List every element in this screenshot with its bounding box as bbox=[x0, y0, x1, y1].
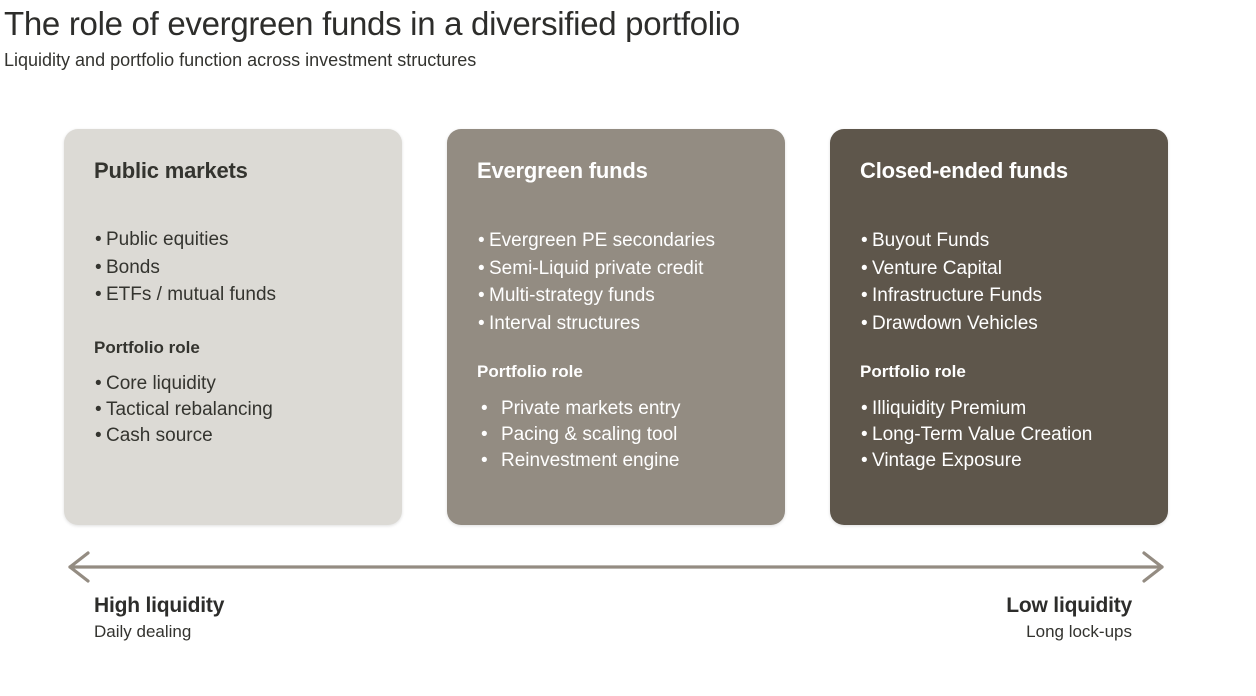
list-item: Cash source bbox=[94, 423, 372, 449]
list-item: Evergreen PE secondaries bbox=[477, 227, 755, 255]
axis-label-title: High liquidity bbox=[94, 592, 224, 620]
list-item: Core liquidity bbox=[94, 371, 372, 397]
feature-list-closed-ended-funds: Buyout Funds Venture Capital Infrastruct… bbox=[860, 227, 1138, 337]
portfolio-role-heading-public-markets: Portfolio role bbox=[94, 337, 372, 359]
portfolio-role-heading-evergreen-funds: Portfolio role bbox=[477, 361, 755, 383]
axis-label-subtitle: Long lock-ups bbox=[1006, 620, 1132, 644]
card-title-closed-ended-funds: Closed-ended funds bbox=[860, 157, 1138, 185]
portfolio-role-list-public-markets: Core liquidity Tactical rebalancing Cash… bbox=[94, 371, 372, 449]
portfolio-role-heading-closed-ended-funds: Portfolio role bbox=[860, 361, 1138, 383]
list-item: Buyout Funds bbox=[860, 227, 1138, 255]
list-item: Interval structures bbox=[477, 310, 755, 338]
portfolio-role-list-evergreen-funds: Private markets entry Pacing & scaling t… bbox=[477, 396, 755, 474]
axis-label-subtitle: Daily dealing bbox=[94, 620, 224, 644]
card-title-evergreen-funds: Evergreen funds bbox=[477, 157, 755, 185]
feature-list-evergreen-funds: Evergreen PE secondaries Semi-Liquid pri… bbox=[477, 227, 755, 337]
list-item: Multi-strategy funds bbox=[477, 282, 755, 310]
list-item: Long-Term Value Creation bbox=[860, 422, 1138, 448]
list-item: Public equities bbox=[94, 226, 372, 254]
list-item: Illiquidity Premium bbox=[860, 396, 1138, 422]
list-item: Bonds bbox=[94, 254, 372, 282]
feature-list-public-markets: Public equities Bonds ETFs / mutual fund… bbox=[94, 226, 372, 309]
fund-structure-cards: Public markets Public equities Bonds ETF… bbox=[64, 129, 1168, 525]
list-item: Private markets entry bbox=[477, 396, 755, 422]
list-item: Semi-Liquid private credit bbox=[477, 255, 755, 283]
list-item: Venture Capital bbox=[860, 255, 1138, 283]
list-item: Infrastructure Funds bbox=[860, 282, 1138, 310]
card-evergreen-funds[interactable]: Evergreen funds Evergreen PE secondaries… bbox=[447, 129, 785, 525]
list-item: Drawdown Vehicles bbox=[860, 310, 1138, 338]
portfolio-role-list-closed-ended-funds: Illiquidity Premium Long-Term Value Crea… bbox=[860, 396, 1138, 474]
page-title: The role of evergreen funds in a diversi… bbox=[4, 2, 1244, 46]
card-closed-ended-funds[interactable]: Closed-ended funds Buyout Funds Venture … bbox=[830, 129, 1168, 525]
list-item: Vintage Exposure bbox=[860, 448, 1138, 474]
page-header: The role of evergreen funds in a diversi… bbox=[4, 2, 1244, 73]
axis-label-high-liquidity: High liquidity Daily dealing bbox=[64, 592, 224, 644]
liquidity-axis bbox=[64, 550, 1168, 584]
page-subtitle: Liquidity and portfolio function across … bbox=[4, 47, 1244, 73]
axis-label-title: Low liquidity bbox=[1006, 592, 1132, 620]
liquidity-axis-labels: High liquidity Daily dealing Low liquidi… bbox=[64, 592, 1168, 644]
list-item: ETFs / mutual funds bbox=[94, 281, 372, 309]
list-item: Reinvestment engine bbox=[477, 448, 755, 474]
list-item: Tactical rebalancing bbox=[94, 397, 372, 423]
list-item: Pacing & scaling tool bbox=[477, 422, 755, 448]
card-title-public-markets: Public markets bbox=[94, 157, 372, 185]
axis-label-low-liquidity: Low liquidity Long lock-ups bbox=[1006, 592, 1168, 644]
double-arrow-icon bbox=[64, 550, 1168, 584]
card-public-markets[interactable]: Public markets Public equities Bonds ETF… bbox=[64, 129, 402, 525]
